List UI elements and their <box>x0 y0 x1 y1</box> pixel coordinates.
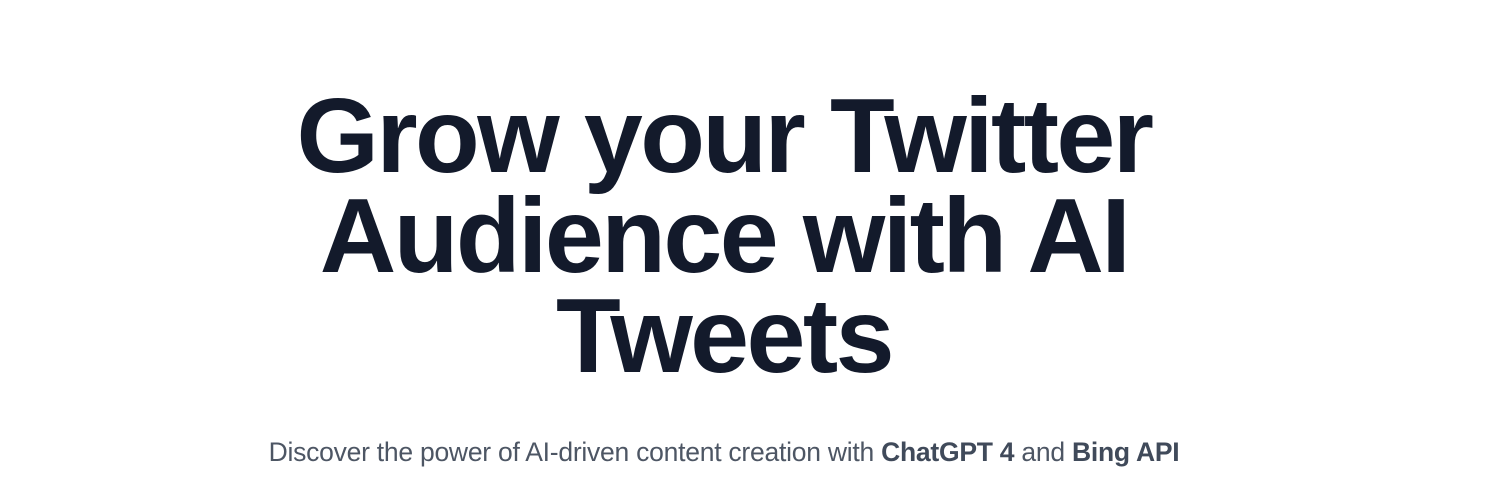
headline-line-2: Audience with AI <box>0 186 1448 286</box>
subtitle-conjunction: and <box>1014 437 1072 467</box>
page-subtitle: Discover the power of AI-driven content … <box>0 437 1448 467</box>
hero-content: Grow your Twitter Audience with AI Tweet… <box>0 0 1448 500</box>
subtitle-brand-chatgpt: ChatGPT 4 <box>881 437 1014 467</box>
headline-line-1: Grow your Twitter <box>0 86 1448 186</box>
headline-line-3: Tweets <box>0 286 1448 386</box>
subtitle-brand-bing: Bing API <box>1072 437 1179 467</box>
hero-banner: Grow your Twitter Audience with AI Tweet… <box>0 0 1500 500</box>
subtitle-lead-text: Discover the power of AI-driven content … <box>269 437 882 467</box>
page-title: Grow your Twitter Audience with AI Tweet… <box>0 86 1448 386</box>
